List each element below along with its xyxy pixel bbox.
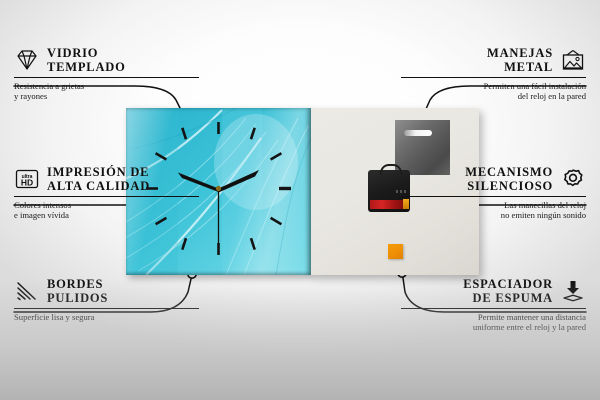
gear-icon (560, 167, 586, 191)
feature-rule (14, 308, 199, 309)
feature-title: BORDES PULIDOS (47, 277, 108, 305)
feature-vidrio-templado: VIDRIO TEMPLADO Resistencia a grietas y … (14, 46, 199, 102)
picture-hanger-icon (560, 48, 586, 72)
feature-impresion-alta-calidad: ultra HD IMPRESIÓN DE ALTA CALIDAD Color… (14, 165, 199, 221)
diamond-icon (14, 48, 40, 72)
feature-title: VIDRIO TEMPLADO (47, 46, 126, 74)
feature-subtitle: Resistencia a grietas y rayones (14, 81, 199, 102)
feature-rule (401, 308, 586, 309)
ultra-hd-icon: ultra HD (14, 167, 40, 191)
minute-hand (219, 170, 260, 193)
feature-title: ESPACIADOR DE ESPUMA (463, 277, 553, 305)
feature-subtitle: Colores intensos e imagen vívida (14, 200, 199, 221)
feature-title: MECANISMO SILENCIOSO (465, 165, 553, 193)
center-pin (216, 186, 221, 191)
infographic-canvas: VIDRIO TEMPLADO Resistencia a grietas y … (0, 0, 600, 400)
feature-title: IMPRESIÓN DE ALTA CALIDAD (47, 165, 150, 193)
polished-edges-icon (14, 279, 40, 303)
mechanism-hook (380, 164, 402, 175)
feature-bordes-pulidos: BORDES PULIDOS Superficie lisa y segura (14, 277, 199, 322)
feature-rule (401, 77, 586, 78)
foam-spacer-pad (388, 244, 403, 259)
feature-mecanismo-silencioso: MECANISMO SILENCIOSO Las manecillas del … (401, 165, 586, 221)
battery-compartment (370, 200, 404, 209)
feature-subtitle: Permiten una fácil instalación del reloj… (401, 81, 586, 102)
hanger-keyhole-slot (404, 130, 432, 136)
feature-rule (14, 77, 199, 78)
feature-manejas-metal: MANEJAS METAL Permiten una fácil instala… (401, 46, 586, 102)
feature-subtitle: Superficie lisa y segura (14, 312, 199, 322)
feature-title: MANEJAS METAL (487, 46, 553, 74)
ultra-hd-large-text: HD (21, 178, 33, 188)
feature-rule (14, 196, 199, 197)
feature-subtitle: Permite mantener una distancia uniforme … (401, 312, 586, 333)
feature-rule (401, 196, 586, 197)
feature-espaciador-espuma: ESPACIADOR DE ESPUMA Permite mantener un… (401, 277, 586, 333)
foam-spacer-arrow-icon (560, 279, 586, 303)
feature-subtitle: Las manecillas del reloj no emiten ningú… (401, 200, 586, 221)
